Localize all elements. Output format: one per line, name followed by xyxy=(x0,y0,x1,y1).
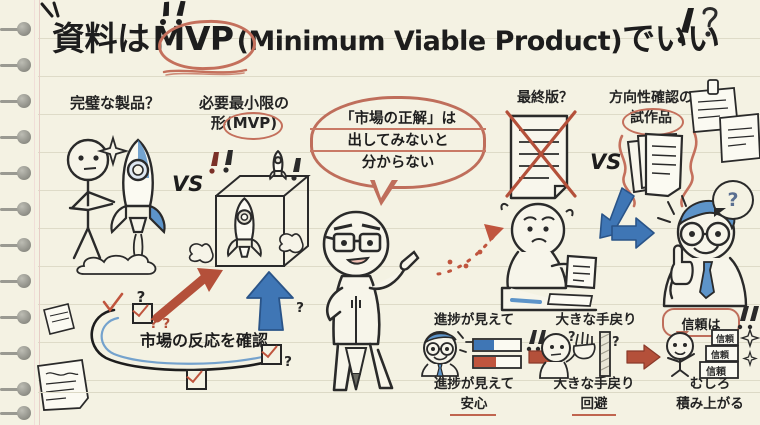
illustration-sticky-notes xyxy=(686,78,760,166)
arrow-blue-right xyxy=(610,216,656,250)
bottom-label-0-line2: 安心 xyxy=(410,396,538,412)
underline-0 xyxy=(450,414,496,416)
baseline-rule xyxy=(38,392,760,393)
speech-line-3: 分からない xyxy=(310,152,486,174)
check-mark-small xyxy=(100,292,126,314)
page-title: 資料はMVP(Minimum Viable Product)でいい xyxy=(52,14,752,72)
label-final-version: 最終版？ xyxy=(500,90,590,107)
svg-text:信頼: 信頼 xyxy=(711,349,730,361)
arrow-red-up xyxy=(155,268,235,322)
vs-right: VS xyxy=(590,150,621,174)
sparkle-icons xyxy=(742,330,760,372)
illustration-person-cheering xyxy=(662,332,704,376)
label-perfect-product: 完璧な製品？ xyxy=(50,94,180,112)
bottom-top-label-1: 大きな手戻り xyxy=(536,312,656,328)
illustration-rejected-document xyxy=(505,112,581,204)
question-mark-doodle-3: ? xyxy=(276,354,300,370)
slide-canvas: 資料はMVP(Minimum Viable Product)でいい xyxy=(0,0,760,425)
bottom-top-label-0: 進捗が見えて xyxy=(418,312,530,328)
mvp-underline-scribble xyxy=(162,67,248,76)
svg-text:?: ? xyxy=(568,330,576,345)
title-text-line: 資料はMVP(Minimum Viable Product)でいい xyxy=(52,16,720,65)
svg-text:信頼: 信頼 xyxy=(706,365,727,378)
speech-line-2: 出してみないと xyxy=(310,130,486,152)
arrow-red-step-2 xyxy=(626,344,662,370)
illustration-small-paper-2 xyxy=(38,300,78,340)
svg-text:?: ? xyxy=(612,335,620,350)
svg-text:信頼: 信頼 xyxy=(716,333,735,345)
bottom-label-0-line1: 進捗が見えて xyxy=(410,376,538,392)
illustration-person-progress xyxy=(418,330,474,376)
illustration-trust-blocks: 信頼 信頼 信頼 xyxy=(700,328,748,380)
underline-1 xyxy=(572,414,616,416)
label-mvp-form-line1: 必要最小限の xyxy=(176,94,312,112)
spiral-binding xyxy=(0,0,30,425)
speech-bubble-market-truth: 「市場の正解」は 出してみないと 分からない xyxy=(310,96,486,189)
mvp-form-circle xyxy=(223,112,283,140)
title-part2: (Minimum Viable Product) xyxy=(237,26,622,57)
progress-bars xyxy=(472,338,526,370)
speech-line-1: 「市場の正解」は xyxy=(310,108,486,130)
bottom-label-1-line2: 回避 xyxy=(530,396,658,412)
checkbox-check-2 xyxy=(186,369,207,390)
arrow-blue-up xyxy=(243,272,299,332)
illustration-person-with-rocket xyxy=(56,128,186,273)
bottom-label-2-line2: 積み上がる xyxy=(654,396,760,412)
question-mark-doodle-2: ? xyxy=(126,288,156,306)
illustration-worried-person xyxy=(500,196,610,312)
illustration-person-wall: ? ? xyxy=(538,332,622,378)
illustration-small-paper xyxy=(34,356,98,412)
